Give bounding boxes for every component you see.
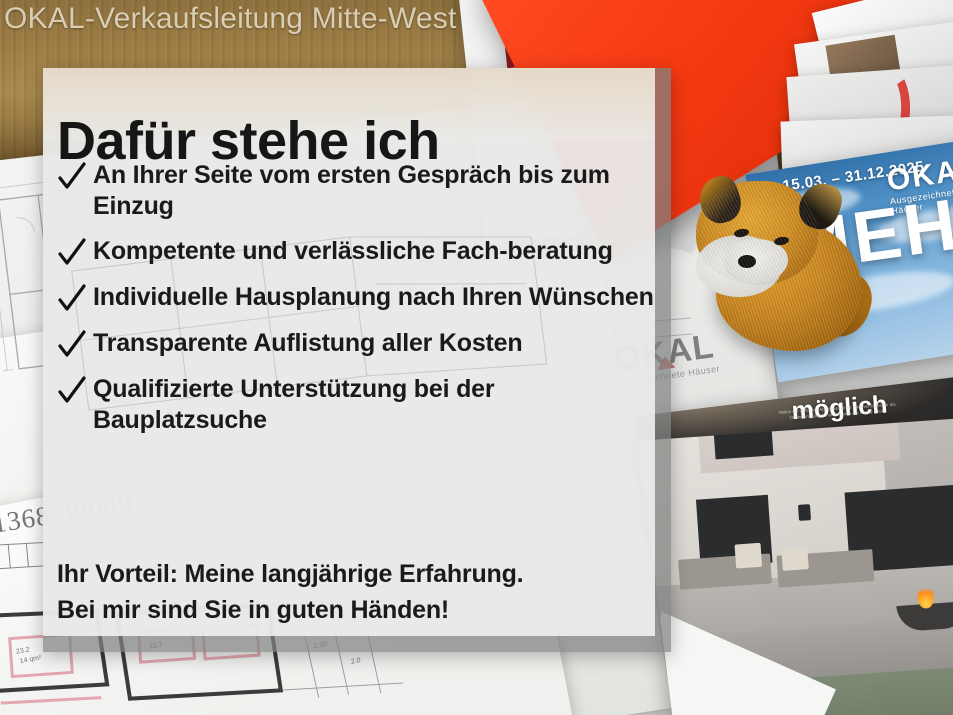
list-item-label: Qualifizierte Unterstützung bei der Baup… — [93, 374, 657, 436]
fox-head — [696, 181, 818, 285]
check-icon — [57, 162, 93, 192]
fox-ear-left — [694, 172, 746, 228]
photo-wall-lamp — [798, 504, 811, 521]
closing-statement: Ihr Vorteil: Meine langjährige Erfahrung… — [57, 556, 637, 628]
list-item: Qualifizierte Unterstützung bei der Baup… — [57, 374, 657, 436]
check-icon — [57, 284, 93, 314]
fox-eye-right — [773, 236, 789, 246]
closing-line-2: Bei mir sind Sie in guten Händen! — [57, 592, 637, 628]
list-item: An Ihrer Seite vom ersten Gespräch bis z… — [57, 160, 657, 222]
fox-eye-left — [733, 228, 749, 238]
check-icon — [57, 330, 93, 360]
check-icon — [57, 238, 93, 268]
svg-text:2.0: 2.0 — [350, 657, 361, 666]
svg-text:23.2: 23.2 — [16, 646, 31, 655]
closing-line-1: Ihr Vorteil: Meine langjährige Erfahrung… — [57, 556, 637, 592]
list-item: Kompetente und verlässliche Fach-beratun… — [57, 236, 657, 268]
fox-cheek — [696, 235, 782, 297]
list-item-label: Individuelle Hausplanung nach Ihren Wüns… — [93, 282, 654, 313]
list-item: Individuelle Hausplanung nach Ihren Wüns… — [57, 282, 657, 314]
photo-cushion-2 — [781, 547, 808, 571]
plush-fox-toy — [690, 175, 865, 365]
benefits-checklist: An Ihrer Seite vom ersten Gespräch bis z… — [57, 160, 657, 450]
check-icon — [57, 376, 93, 406]
list-item-label: An Ihrer Seite vom ersten Gespräch bis z… — [93, 160, 657, 222]
fox-ear-right — [794, 178, 846, 234]
fox-muzzle — [724, 239, 788, 283]
photo-cushion-1 — [735, 543, 763, 569]
list-item-label: Kompetente und verlässliche Fach-beratun… — [93, 236, 613, 267]
house-photo-brochure: 3 Woh und meh möglich Aktion nur gültig … — [636, 376, 953, 715]
list-item-label: Transparente Auflistung aller Kosten — [93, 328, 522, 359]
list-item: Transparente Auflistung aller Kosten — [57, 328, 657, 360]
fox-nose — [738, 255, 756, 268]
screenshot-root: 1368-30009 Datum: Unterschrift Bauherrin… — [0, 0, 953, 715]
top-title: OKAL-Verkaufsleitung Mitte-West — [4, 2, 457, 36]
svg-text:14 qm²: 14 qm² — [19, 654, 42, 665]
